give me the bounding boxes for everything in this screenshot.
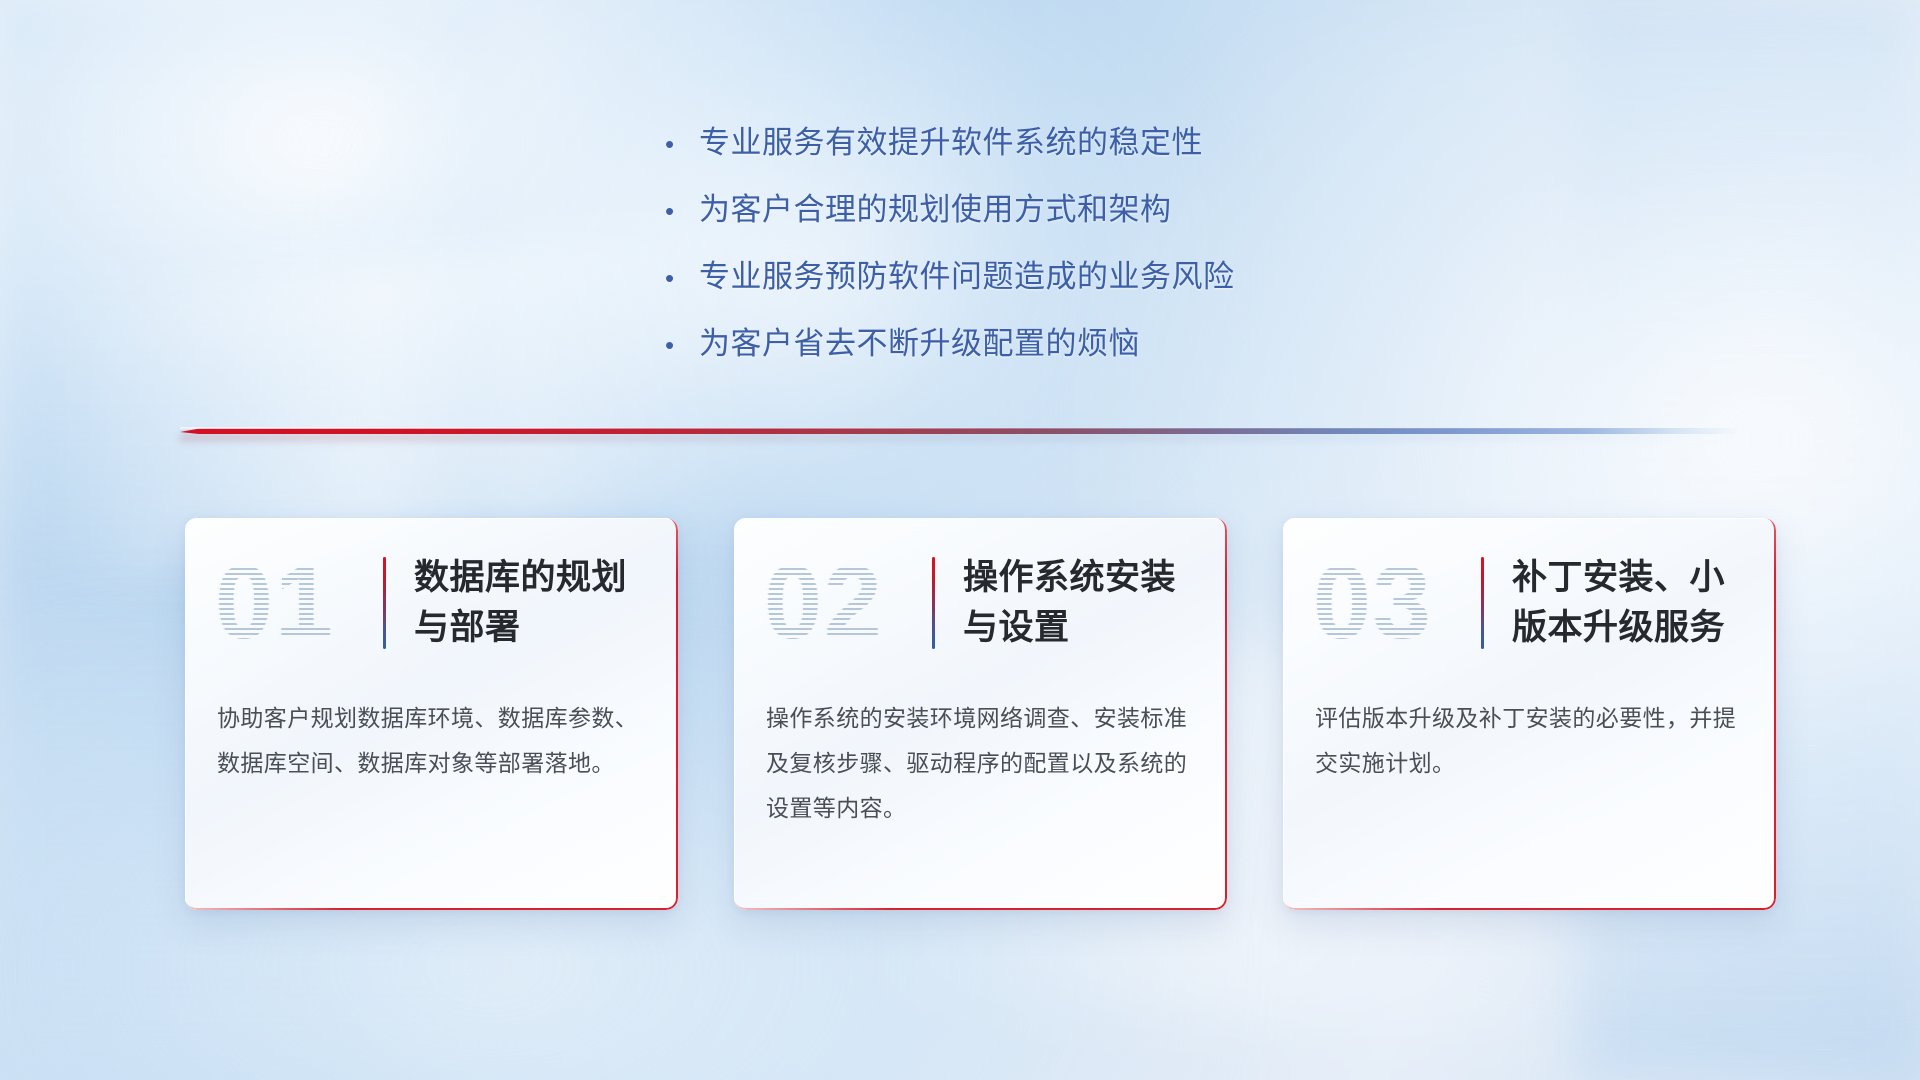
list-item: • 为客户合理的规划使用方式和架构 xyxy=(665,177,1425,244)
card-title: 操作系统安装与设置 xyxy=(963,553,1201,653)
service-card-03[interactable]: 03 补丁安装、小版本升级服务 评估版本升级及补丁安装的必要性，并提交实施计划。 xyxy=(1283,518,1776,910)
card-description: 协助客户规划数据库环境、数据库参数、数据库空间、数据库对象等部署落地。 xyxy=(185,688,678,786)
card-description: 操作系统的安装环境网络调查、安装标准及复核步骤、驱动程序的配置以及系统的设置等内… xyxy=(734,688,1227,831)
bullet-dot-icon: • xyxy=(665,179,699,244)
card-number: 01 xyxy=(215,543,383,663)
divider-shadow xyxy=(180,434,1740,441)
list-item-label: 为客户合理的规划使用方式和架构 xyxy=(699,177,1172,242)
list-item-label: 为客户省去不断升级配置的烦恼 xyxy=(699,311,1140,376)
service-card-01[interactable]: 01 数据库的规划与部署 协助客户规划数据库环境、数据库参数、数据库空间、数据库… xyxy=(185,518,678,910)
card-title: 数据库的规划与部署 xyxy=(414,553,652,653)
benefits-bullet-list: • 专业服务有效提升软件系统的稳定性 • 为客户合理的规划使用方式和架构 • 专… xyxy=(665,110,1425,378)
list-item: • 专业服务有效提升软件系统的稳定性 xyxy=(665,110,1425,177)
divider-highlight xyxy=(180,427,1740,429)
bullet-dot-icon: • xyxy=(665,313,699,378)
bullet-dot-icon: • xyxy=(665,112,699,177)
card-divider-rule xyxy=(932,557,935,649)
list-item-label: 专业服务预防软件问题造成的业务风险 xyxy=(699,244,1235,309)
bullet-dot-icon: • xyxy=(665,246,699,311)
card-divider-rule xyxy=(383,557,386,649)
card-header: 03 补丁安装、小版本升级服务 xyxy=(1283,518,1776,688)
card-description: 评估版本升级及补丁安装的必要性，并提交实施计划。 xyxy=(1283,688,1776,786)
card-number: 03 xyxy=(1313,543,1481,663)
service-card-grid: 01 数据库的规划与部署 协助客户规划数据库环境、数据库参数、数据库空间、数据库… xyxy=(185,518,1776,910)
card-header: 02 操作系统安装与设置 xyxy=(734,518,1227,688)
card-header: 01 数据库的规划与部署 xyxy=(185,518,678,688)
section-divider xyxy=(180,424,1740,438)
list-item: • 为客户省去不断升级配置的烦恼 xyxy=(665,311,1425,378)
list-item: • 专业服务预防软件问题造成的业务风险 xyxy=(665,244,1425,311)
card-divider-rule xyxy=(1481,557,1484,649)
card-number: 02 xyxy=(764,543,932,663)
service-card-02[interactable]: 02 操作系统安装与设置 操作系统的安装环境网络调查、安装标准及复核步骤、驱动程… xyxy=(734,518,1227,910)
list-item-label: 专业服务有效提升软件系统的稳定性 xyxy=(699,110,1203,175)
card-title: 补丁安装、小版本升级服务 xyxy=(1512,553,1750,653)
